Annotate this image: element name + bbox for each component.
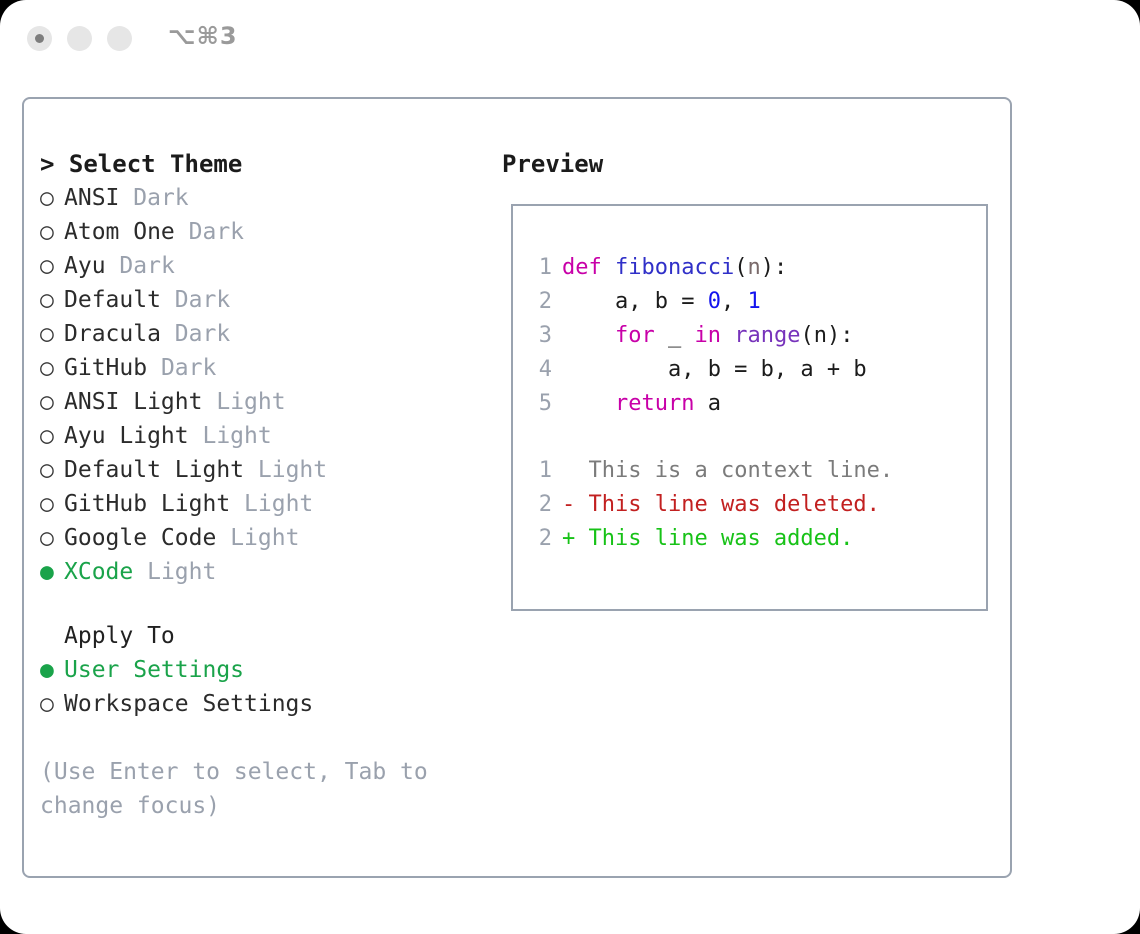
- select-theme-header: > Select Theme: [40, 147, 480, 181]
- apply-to-header: Apply To: [40, 619, 480, 653]
- code-line-number: 2: [526, 285, 552, 319]
- theme-name: Ayu: [64, 253, 106, 279]
- theme-list-item[interactable]: ○ANSI Light Light: [40, 385, 480, 419]
- radio-selected-icon[interactable]: ●: [40, 555, 64, 589]
- content-panel: > Select Theme ○ANSI Dark○Atom One Dark○…: [22, 97, 1012, 878]
- theme-label-gap: [202, 389, 216, 415]
- code-sample: 1def fibonacci(n):2 a, b = 0, 13 for _ i…: [526, 251, 982, 421]
- theme-name: Google Code: [64, 525, 216, 551]
- diff-sign: +: [562, 526, 589, 551]
- select-theme-header-label: Select Theme: [69, 150, 242, 178]
- theme-name: ANSI: [64, 185, 119, 211]
- code-line: 2 a, b = 0, 1: [526, 285, 982, 319]
- theme-list-item[interactable]: ○Ayu Dark: [40, 249, 480, 283]
- theme-list-item[interactable]: ○GitHub Dark: [40, 351, 480, 385]
- theme-kind-badge: Dark: [175, 287, 230, 313]
- theme-kind-badge: Dark: [133, 185, 188, 211]
- diff-sample: 1 This is a context line.2- This line wa…: [526, 454, 982, 556]
- diff-sign: [562, 458, 589, 483]
- theme-kind-badge: Light: [216, 389, 285, 415]
- theme-name: XCode: [64, 559, 133, 585]
- apply-to-list: ●User Settings○Workspace Settings: [40, 653, 480, 721]
- code-token: 1: [747, 289, 760, 314]
- theme-name: ANSI Light: [64, 389, 202, 415]
- theme-label-gap: [189, 423, 203, 449]
- code-token: a, b = b, a + b: [562, 357, 867, 382]
- code-token: in: [694, 323, 721, 348]
- diff-text: This line was added.: [589, 526, 854, 551]
- theme-name: Default Light: [64, 457, 244, 483]
- theme-label-gap: [133, 559, 147, 585]
- code-token: a, b =: [562, 289, 708, 314]
- prompt-caret: >: [40, 150, 69, 178]
- theme-list-item[interactable]: ○Google Code Light: [40, 521, 480, 555]
- theme-kind-badge: Dark: [119, 253, 174, 279]
- theme-kind-badge: Light: [147, 559, 216, 585]
- diff-text: This is a context line.: [589, 458, 894, 483]
- theme-name: Ayu Light: [64, 423, 189, 449]
- diff-line-number: 1: [526, 454, 552, 488]
- radio-unselected-icon[interactable]: ○: [40, 351, 64, 385]
- traffic-light-minimize-icon[interactable]: [67, 26, 92, 51]
- theme-kind-badge: Light: [258, 457, 327, 483]
- apply-to-option-label: Workspace Settings: [64, 691, 313, 717]
- theme-label-gap: [161, 287, 175, 313]
- diff-line: 2- This line was deleted.: [526, 488, 982, 522]
- apply-to-option[interactable]: ○Workspace Settings: [40, 687, 480, 721]
- preview-title: Preview: [502, 147, 992, 181]
- code-line: 4 a, b = b, a + b: [526, 353, 982, 387]
- radio-selected-icon[interactable]: ●: [40, 653, 64, 687]
- diff-sign: -: [562, 492, 589, 517]
- theme-label-gap: [175, 219, 189, 245]
- theme-label-gap: [244, 457, 258, 483]
- apply-to-option-label: User Settings: [64, 657, 244, 683]
- code-line: 3 for _ in range(n):: [526, 319, 982, 353]
- radio-unselected-icon[interactable]: ○: [40, 215, 64, 249]
- code-line: 5 return a: [526, 387, 982, 421]
- keyboard-shortcut-label: ⌥⌘3: [168, 22, 238, 50]
- theme-list: ○ANSI Dark○Atom One Dark○Ayu Dark○Defaul…: [40, 181, 480, 589]
- theme-list-item[interactable]: ○GitHub Light Light: [40, 487, 480, 521]
- radio-unselected-icon[interactable]: ○: [40, 385, 64, 419]
- theme-label-gap: [147, 355, 161, 381]
- keyboard-hint-text: (Use Enter to select, Tab to change focu…: [40, 755, 450, 823]
- theme-list-item[interactable]: ○ANSI Dark: [40, 181, 480, 215]
- theme-list-item[interactable]: ○Atom One Dark: [40, 215, 480, 249]
- code-token: [721, 323, 734, 348]
- apply-to-header-label: Apply To: [64, 623, 175, 649]
- title-bar: ⌥⌘3: [0, 0, 1140, 78]
- traffic-light-zoom-icon[interactable]: [107, 26, 132, 51]
- radio-unselected-icon[interactable]: ○: [40, 283, 64, 317]
- radio-unselected-icon[interactable]: ○: [40, 317, 64, 351]
- apply-to-header-spacer: [40, 619, 64, 653]
- app-window: ⌥⌘3 > Select Theme ○ANSI Dark○Atom One D…: [0, 0, 1140, 934]
- code-line-number: 3: [526, 319, 552, 353]
- theme-selector-column: > Select Theme ○ANSI Dark○Atom One Dark○…: [40, 147, 480, 823]
- diff-line-number: 2: [526, 522, 552, 556]
- theme-list-item[interactable]: ○Dracula Dark: [40, 317, 480, 351]
- code-token: ,: [721, 289, 748, 314]
- code-token: [562, 323, 615, 348]
- code-token: for: [615, 323, 655, 348]
- code-token: ):: [761, 255, 788, 280]
- code-token: n: [747, 255, 760, 280]
- theme-kind-badge: Light: [230, 525, 299, 551]
- code-token: (: [734, 255, 747, 280]
- code-token: def: [562, 255, 615, 280]
- theme-label-gap: [106, 253, 120, 279]
- diff-line: 2+ This line was added.: [526, 522, 982, 556]
- code-line: 1def fibonacci(n):: [526, 251, 982, 285]
- theme-label-gap: [119, 185, 133, 211]
- theme-kind-badge: Dark: [161, 355, 216, 381]
- code-line-number: 1: [526, 251, 552, 285]
- code-token: [562, 391, 615, 416]
- code-line-number: 5: [526, 387, 552, 421]
- traffic-light-close-icon[interactable]: [27, 26, 52, 51]
- code-token: _: [655, 323, 695, 348]
- radio-unselected-icon[interactable]: ○: [40, 687, 64, 721]
- radio-unselected-icon[interactable]: ○: [40, 249, 64, 283]
- radio-unselected-icon[interactable]: ○: [40, 521, 64, 555]
- theme-kind-badge: Dark: [189, 219, 244, 245]
- code-token: (n):: [800, 323, 853, 348]
- code-line-number: 4: [526, 353, 552, 387]
- code-token: return: [615, 391, 694, 416]
- theme-list-item[interactable]: ○Default Dark: [40, 283, 480, 317]
- theme-name: GitHub: [64, 355, 147, 381]
- diff-line: 1 This is a context line.: [526, 454, 982, 488]
- diff-text: This line was deleted.: [589, 492, 880, 517]
- theme-name: Atom One: [64, 219, 175, 245]
- preview-box: 1def fibonacci(n):2 a, b = 0, 13 for _ i…: [511, 204, 988, 611]
- theme-list-item[interactable]: ○Ayu Light Light: [40, 419, 480, 453]
- radio-unselected-icon[interactable]: ○: [40, 487, 64, 521]
- diff-line-number: 2: [526, 488, 552, 522]
- theme-label-gap: [161, 321, 175, 347]
- theme-label-gap: [230, 491, 244, 517]
- theme-name: Default: [64, 287, 161, 313]
- theme-list-item[interactable]: ○Default Light Light: [40, 453, 480, 487]
- code-token: 0: [708, 289, 721, 314]
- theme-list-item[interactable]: ●XCode Light: [40, 555, 480, 589]
- theme-kind-badge: Light: [202, 423, 271, 449]
- radio-unselected-icon[interactable]: ○: [40, 453, 64, 487]
- radio-unselected-icon[interactable]: ○: [40, 419, 64, 453]
- code-token: fibonacci: [615, 255, 734, 280]
- theme-name: Dracula: [64, 321, 161, 347]
- preview-column: Preview 1def fibonacci(n):2 a, b = 0, 13…: [502, 147, 992, 181]
- theme-kind-badge: Light: [244, 491, 313, 517]
- code-token: a: [694, 391, 721, 416]
- theme-name: GitHub Light: [64, 491, 230, 517]
- theme-kind-badge: Dark: [175, 321, 230, 347]
- theme-label-gap: [216, 525, 230, 551]
- radio-unselected-icon[interactable]: ○: [40, 181, 64, 215]
- code-token: range: [734, 323, 800, 348]
- apply-to-option[interactable]: ●User Settings: [40, 653, 480, 687]
